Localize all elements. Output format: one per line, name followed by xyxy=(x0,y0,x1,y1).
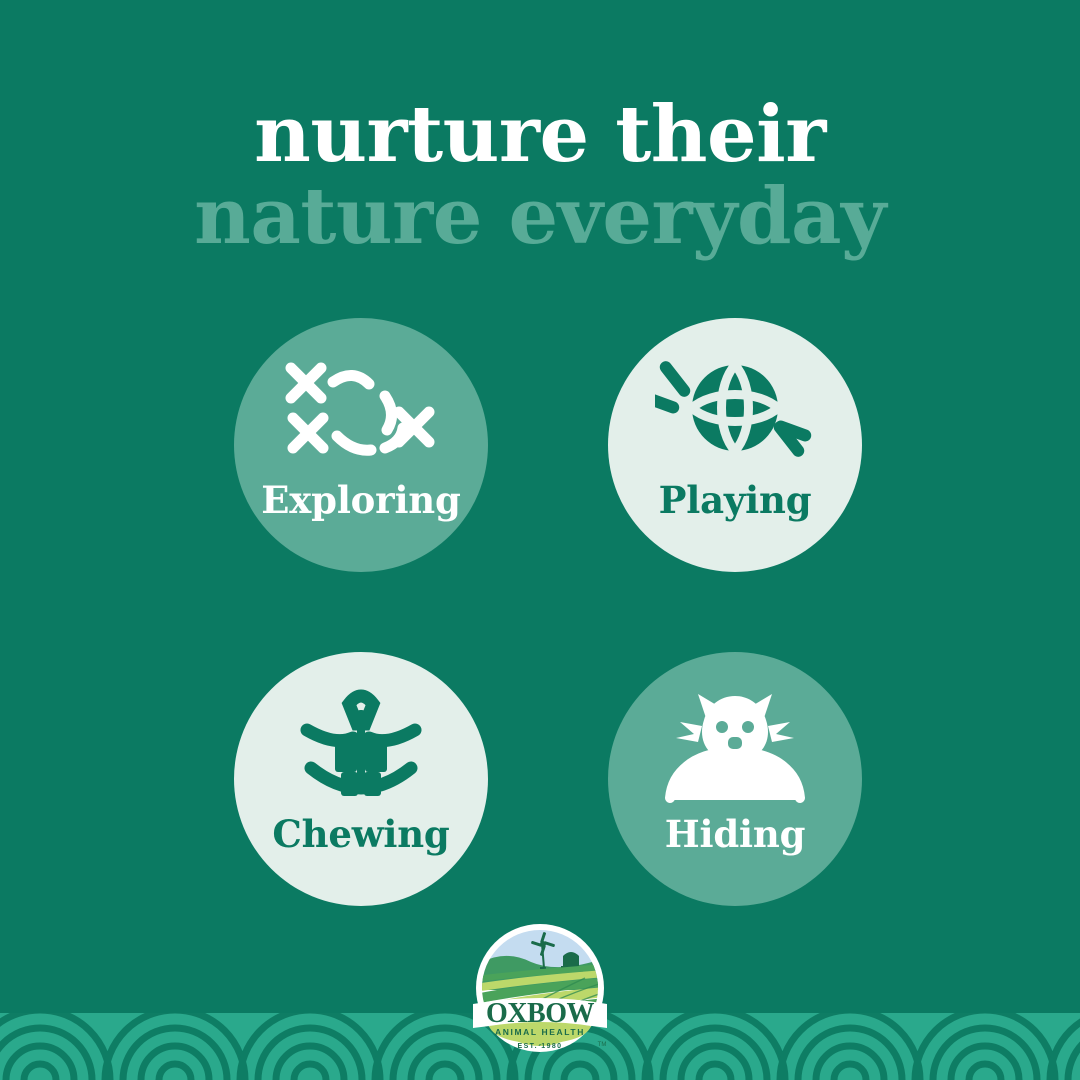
chewing-gnaw-teeth-icon xyxy=(281,680,441,804)
activity-card-label: Chewing xyxy=(272,814,449,854)
activity-card-label: Hiding xyxy=(665,814,806,854)
activity-card-hiding[interactable]: Hiding xyxy=(608,652,862,906)
activity-circle-grid: Exploring xyxy=(234,318,862,906)
activity-card-playing[interactable]: Playing xyxy=(608,318,862,572)
oxbow-logo[interactable]: OXBOW ANIMAL HEALTH EST. 1980 TM xyxy=(465,920,615,1070)
activity-card-label: Exploring xyxy=(261,480,460,520)
logo-brand-text: OXBOW xyxy=(486,998,594,1029)
activity-card-exploring[interactable]: Exploring xyxy=(234,318,488,572)
activity-card-chewing[interactable]: Chewing xyxy=(234,652,488,906)
headline-line-1: nurture their xyxy=(0,93,1080,177)
headline-line-2: nature everyday xyxy=(0,175,1080,259)
logo-trademark-text: TM xyxy=(598,1042,607,1048)
hiding-animal-face-icon xyxy=(655,680,815,804)
logo-tagline-text: ANIMAL HEALTH xyxy=(495,1027,585,1037)
playing-ball-motion-icon xyxy=(655,346,815,470)
logo-established-text: EST. 1980 xyxy=(518,1043,563,1050)
poster-canvas: nurture their nature everyday xyxy=(0,0,1080,1080)
activity-card-label: Playing xyxy=(659,480,812,520)
exploring-map-path-icon xyxy=(281,346,441,470)
